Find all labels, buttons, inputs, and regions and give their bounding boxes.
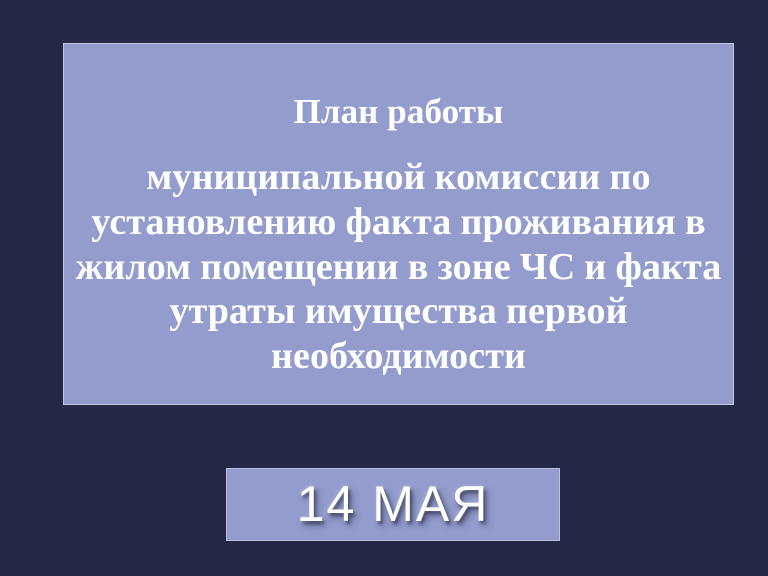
announcement-title: План работы	[66, 94, 731, 129]
announcement-body: муниципальной комиссии по установлению ф…	[66, 155, 731, 379]
announcement-panel-content: План работы муниципальной комиссии по ус…	[64, 44, 733, 379]
announcement-slide: План работы муниципальной комиссии по ус…	[0, 0, 768, 576]
announcement-panel: План работы муниципальной комиссии по ус…	[63, 43, 734, 405]
date-badge: 14 МАЯ	[226, 468, 560, 541]
date-badge-label: 14 МАЯ	[297, 479, 490, 529]
